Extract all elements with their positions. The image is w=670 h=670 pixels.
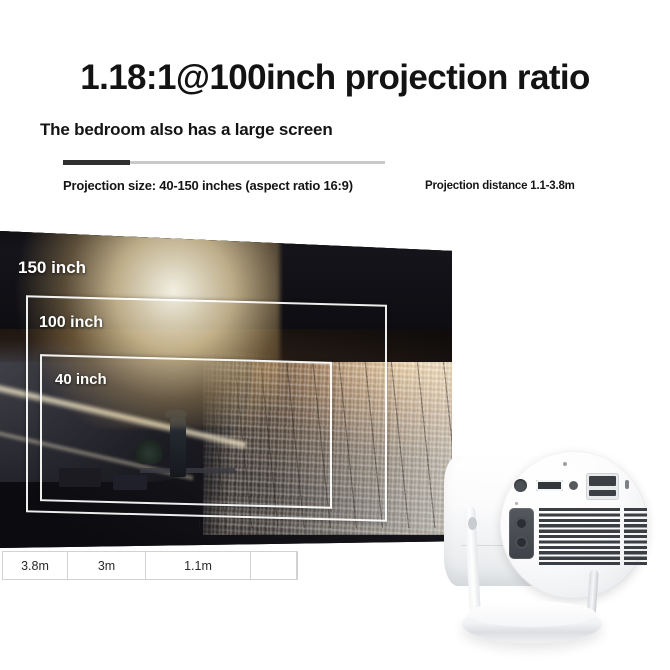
stand-base-top — [468, 601, 596, 627]
projector-device — [440, 445, 650, 660]
screw-icon — [563, 462, 567, 466]
status-led-icon — [625, 480, 629, 489]
hdmi-port-icon — [536, 480, 563, 491]
reset-pinhole-icon — [515, 502, 518, 505]
page-subtitle: The bedroom also has a large screen — [40, 120, 333, 140]
distance-cell: 3.8m — [3, 552, 68, 579]
usb-port-lower-icon — [589, 490, 616, 496]
speaker-hole-icon — [515, 536, 528, 549]
spec-projection-distance: Projection distance 1.1-3.8m — [425, 180, 575, 192]
speaker-hole-icon — [515, 517, 528, 530]
spec-projection-size: Projection size: 40-150 inches (aspect r… — [63, 178, 353, 193]
size-label-150inch: 150 inch — [18, 258, 86, 278]
usb-port-upper-icon — [589, 476, 616, 486]
distance-cell: 3m — [68, 552, 146, 579]
dc-power-port-icon — [514, 479, 527, 492]
page-title: 1.18:1@100inch projection ratio — [0, 58, 670, 98]
speaker-grille — [509, 508, 534, 559]
distance-scale-bar: 3.8m 3m 1.1m — [2, 551, 298, 580]
distance-cell: 1.1m — [146, 552, 251, 579]
usb-port-module-icon — [586, 473, 619, 500]
vent-grille-narrow — [624, 508, 647, 567]
projector-rear-panel — [500, 451, 648, 599]
distance-cell — [251, 552, 297, 579]
vent-grille-wide — [539, 508, 620, 567]
section-divider — [63, 161, 385, 164]
stand-pivot-hinge — [468, 517, 477, 530]
size-label-40inch: 40 inch — [55, 371, 107, 388]
projection-screen-stage: 150 inch 100 inch 40 inch — [0, 216, 452, 548]
audio-jack-port-icon — [569, 481, 578, 490]
size-label-100inch: 100 inch — [39, 314, 103, 332]
section-divider-fill — [63, 160, 130, 165]
